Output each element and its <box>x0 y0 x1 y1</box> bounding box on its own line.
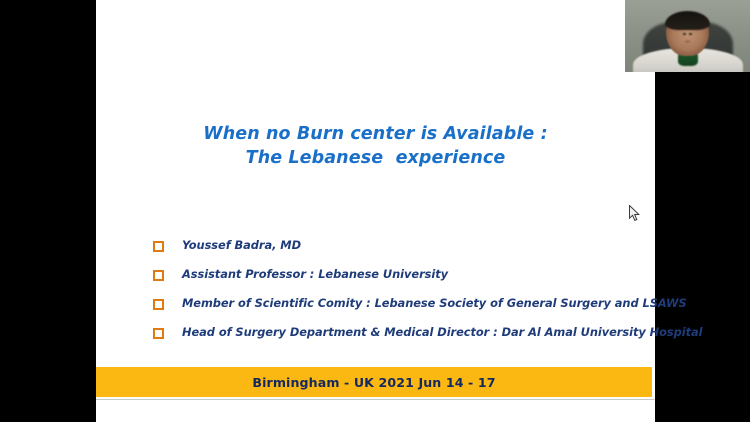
slide-footer-divider <box>96 399 655 400</box>
slide-footer-banner: Birmingham - UK 2021 Jun 14 - 17 <box>96 367 652 397</box>
letterbox-left <box>0 0 96 422</box>
list-item: Assistant Professor : Lebanese Universit… <box>153 267 653 296</box>
list-item-label: Youssef Badra, MD <box>182 238 301 252</box>
list-item-label: Member of Scientific Comity : Lebanese S… <box>182 296 687 310</box>
slide-bullet-list: Youssef Badra, MD Assistant Professor : … <box>153 238 653 354</box>
screen-capture: When no Burn center is Available : The L… <box>0 0 750 422</box>
slide-title-line-2: The Lebanese experience <box>96 146 655 170</box>
slide-title-line-1: When no Burn center is Available : <box>96 122 655 146</box>
list-item: Youssef Badra, MD <box>153 238 653 267</box>
list-item-label: Head of Surgery Department & Medical Dir… <box>182 325 702 339</box>
slide-footer-text: Birmingham - UK 2021 Jun 14 - 17 <box>252 375 495 390</box>
list-item: Head of Surgery Department & Medical Dir… <box>153 325 653 354</box>
square-bullet-icon <box>153 299 164 310</box>
square-bullet-icon <box>153 270 164 281</box>
webcam-eye-right <box>689 33 692 35</box>
webcam-mouth <box>685 41 690 42</box>
presentation-slide: When no Burn center is Available : The L… <box>96 0 655 422</box>
list-item: Member of Scientific Comity : Lebanese S… <box>153 296 653 325</box>
square-bullet-icon <box>153 241 164 252</box>
slide-canvas <box>96 0 655 422</box>
list-item-label: Assistant Professor : Lebanese Universit… <box>182 267 448 281</box>
webcam-video-tile[interactable] <box>625 0 750 72</box>
mouse-pointer-icon <box>629 205 641 223</box>
square-bullet-icon <box>153 328 164 339</box>
slide-title: When no Burn center is Available : The L… <box>96 122 655 170</box>
webcam-eye-left <box>683 33 686 35</box>
